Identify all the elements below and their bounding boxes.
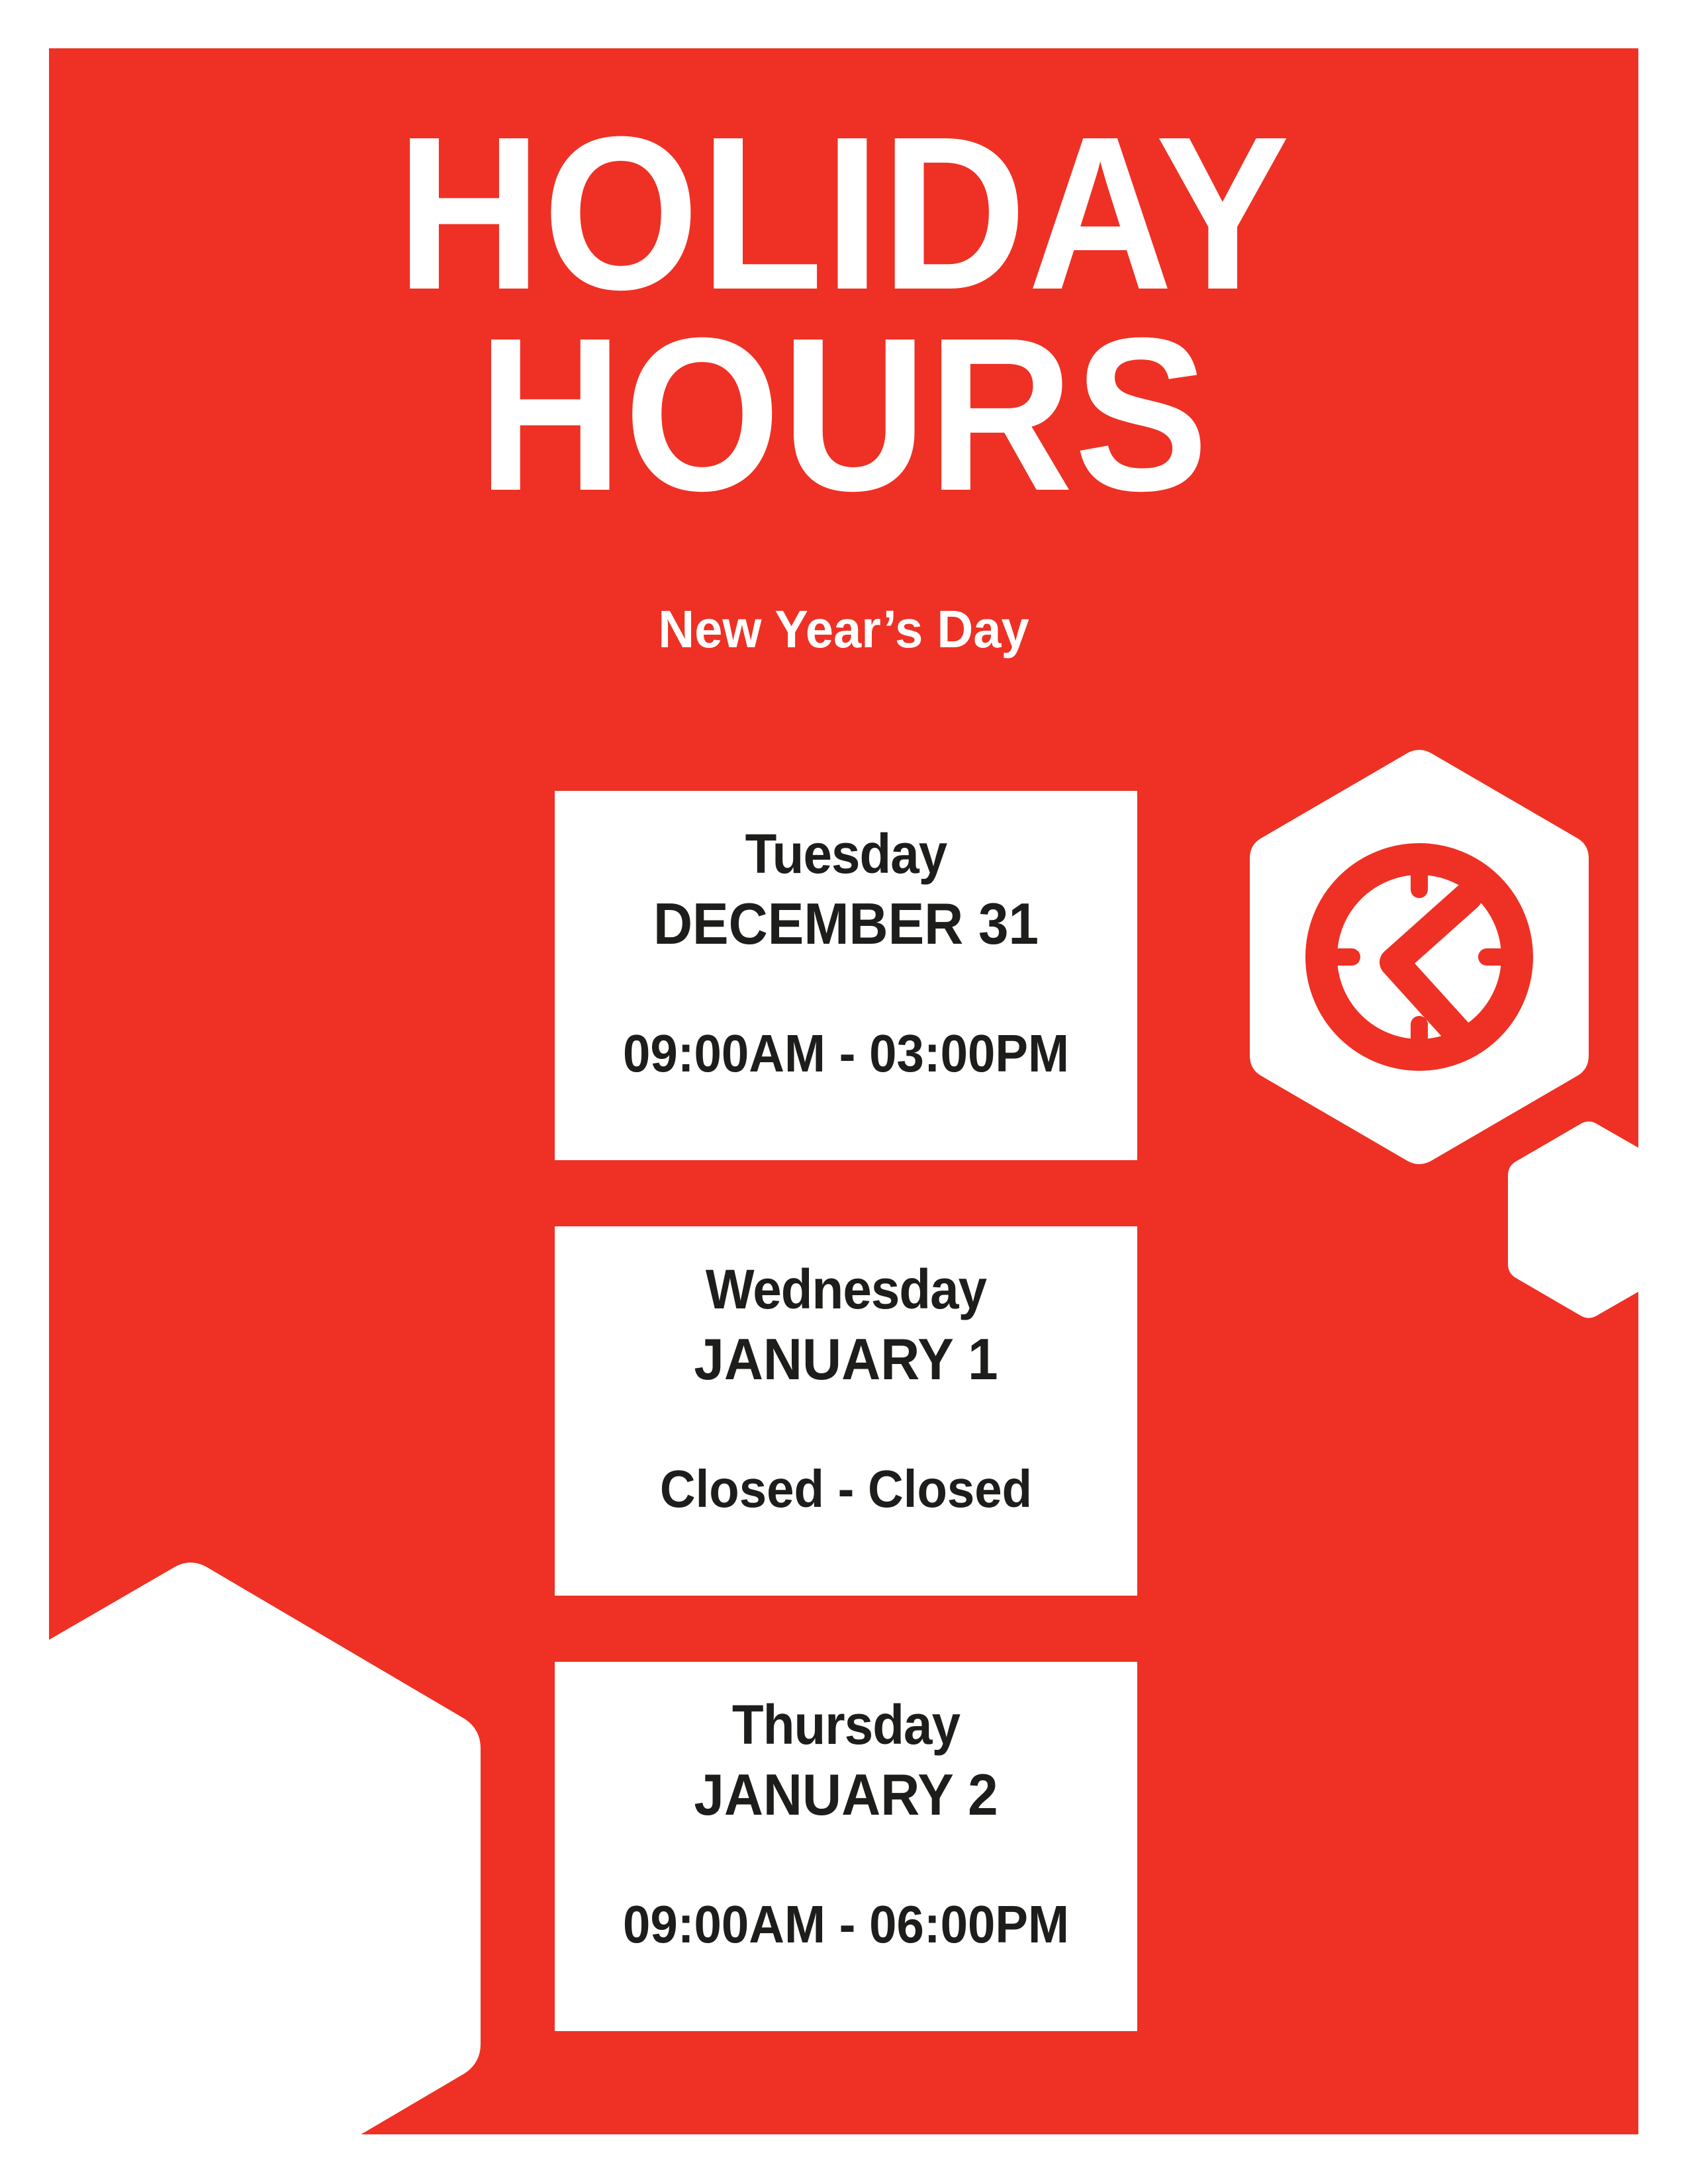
title-line-2: HOURS: [113, 314, 1575, 515]
card-weekday: Tuesday: [575, 823, 1117, 885]
schedule-card: Tuesday DECEMBER 31 09:00AM - 03:00PM: [555, 791, 1137, 1160]
card-weekday: Wednesday: [575, 1258, 1117, 1320]
hexagon-badge: [1250, 748, 1589, 1166]
card-date: DECEMBER 31: [575, 885, 1117, 964]
page-title: HOLIDAY HOURS: [49, 113, 1638, 514]
poster-subtitle: New Year’s Day: [89, 599, 1599, 660]
card-weekday: Thursday: [575, 1694, 1117, 1756]
holiday-hours-poster: HOLIDAY HOURS New Year’s Day Tuesday DEC…: [0, 0, 1688, 2184]
schedule-card-list: Tuesday DECEMBER 31 09:00AM - 03:00PM We…: [555, 791, 1137, 2031]
card-hours: 09:00AM - 03:00PM: [575, 1024, 1117, 1083]
card-date: JANUARY 2: [575, 1756, 1117, 1835]
card-date: JANUARY 1: [575, 1320, 1117, 1399]
schedule-card: Wednesday JANUARY 1 Closed - Closed: [555, 1226, 1137, 1596]
title-line-1: HOLIDAY: [113, 113, 1575, 314]
card-hours: 09:00AM - 06:00PM: [575, 1895, 1117, 1954]
schedule-card: Thursday JANUARY 2 09:00AM - 06:00PM: [555, 1662, 1137, 2031]
card-hours: Closed - Closed: [575, 1460, 1117, 1518]
